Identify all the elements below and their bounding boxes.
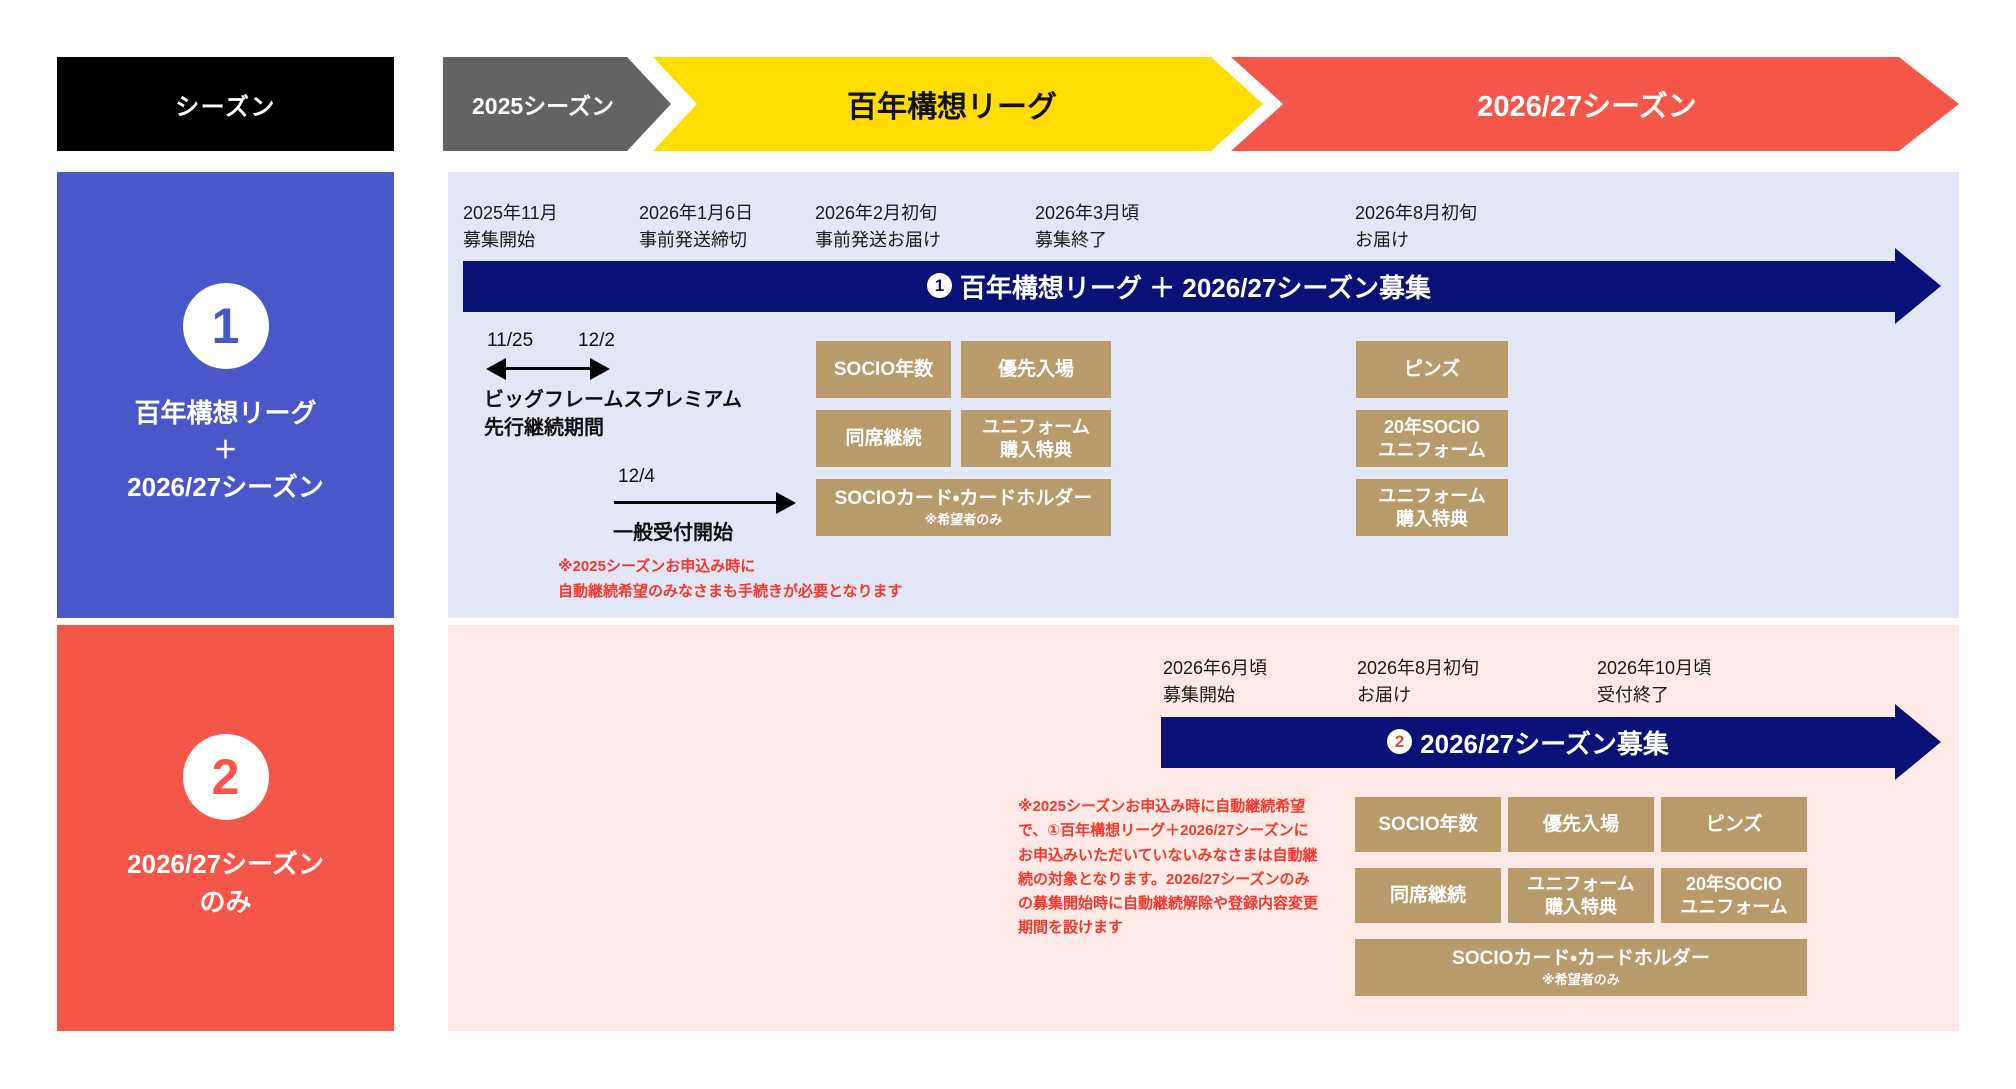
row-2-title: 2026/27シーズン のみ — [127, 846, 324, 921]
row-1-benefit-r0-label: ピンズ — [1404, 358, 1461, 382]
row-1-title-plus: ＋ — [127, 433, 324, 469]
row-2-progress-bar-label-wrap: 2 2026/27シーズン募集 — [1161, 717, 1895, 768]
row-2-milestone-2-date: 2026年10月頃 — [1597, 655, 1711, 682]
row-2-benefit-20y-uniform: 20年SOCIOユニフォーム — [1661, 868, 1807, 923]
row-1-milestone-0-date: 2025年11月 — [463, 200, 558, 227]
row-1-period-double-arrow-icon — [486, 358, 610, 380]
header-season-label: シーズン — [57, 57, 394, 151]
row-1-general-label: 一般受付開始 — [613, 519, 733, 547]
row-1-general-arrow-icon — [614, 492, 796, 514]
row-2-milestone-0: 2026年6月頃 募集開始 — [1163, 655, 1267, 709]
row-2-benefit-priority-entry: 優先入場 — [1508, 797, 1654, 852]
row-1-note-line2: 自動継続希望のみなさまも手続きが必要となります — [558, 580, 903, 605]
row-1-bar-label: 百年構想リーグ ＋ 2026/27シーズン募集 — [960, 268, 1431, 305]
row-2-title-line1: 2026/27シーズン — [127, 849, 324, 879]
row-1-benefit-uniform-purchase: ユニフォーム購入特典 — [961, 410, 1111, 467]
row-1-milestone-3-event: 募集終了 — [1035, 227, 1139, 254]
row-1-milestone-2-event: 事前発送お届け — [815, 227, 941, 254]
row-1-milestone-2-date: 2026年2月初旬 — [815, 200, 941, 227]
row-1-title-line1: 百年構想リーグ — [134, 398, 316, 428]
row-1-benefit-4-label: SOCIOカード・カードホルダー — [835, 487, 1093, 511]
row-1-milestone-3-date: 2026年3月頃 — [1035, 200, 1139, 227]
row-1-title-line2: 2026/27シーズン — [127, 472, 324, 502]
row-1-progress-bar-label-wrap: 1 百年構想リーグ ＋ 2026/27シーズン募集 — [463, 261, 1895, 312]
row-1-benefit-socio-years: SOCIO年数 — [816, 341, 951, 398]
row-1-benefit-r2-label: ユニフォーム購入特典 — [1378, 485, 1485, 530]
row-1-benefit-priority-entry: 優先入場 — [961, 341, 1111, 398]
row-1-period-start-date: 11/25 — [487, 330, 533, 352]
row-1-number-text: 1 — [212, 301, 240, 351]
row-1-milestone-4-date: 2026年8月初旬 — [1355, 200, 1477, 227]
row-1-milestone-4-event: お届け — [1355, 227, 1477, 254]
row-1-period-title-line2: 先行継続期間 — [484, 414, 742, 442]
row-1-milestone-1: 2026年1月6日 事前発送締切 — [639, 200, 753, 254]
row-2-number-badge: 2 — [183, 734, 269, 820]
row-2-milestone-1: 2026年8月初旬 お届け — [1357, 655, 1479, 709]
row-1-benefit-same-seat: 同席継続 — [816, 410, 951, 467]
row-2-title-line2: のみ — [199, 887, 251, 917]
row-1-period-end-date: 12/2 — [578, 330, 615, 352]
timeline-diagram: シーズン 2025シーズン 百年構想リーグ 2026/27シーズン 1 百年構想… — [0, 0, 2016, 1089]
row-2-milestone-2-event: 受付終了 — [1597, 682, 1711, 709]
row-1-bar-badge: 1 — [927, 273, 952, 298]
row-1-milestone-1-event: 事前発送締切 — [639, 227, 753, 254]
row-1-period-title: ビッグフレームスプレミアム 先行継続期間 — [484, 386, 742, 442]
row-2-milestone-2: 2026年10月頃 受付終了 — [1597, 655, 1711, 709]
header-phase-2025-text: 2025シーズン — [472, 87, 614, 121]
row-1-benefit-uniform-purchase-2: ユニフォーム購入特典 — [1356, 479, 1508, 536]
row-2-label: 2 2026/27シーズン のみ — [57, 625, 394, 1031]
row-2-benefit-socio-years: SOCIO年数 — [1355, 797, 1501, 852]
row-2-benefit-3-label: 同席継続 — [1390, 884, 1466, 908]
row-1-milestone-1-date: 2026年1月6日 — [639, 200, 753, 227]
row-1-period-title-line1: ビッグフレームスプレミアム — [484, 386, 742, 414]
row-1-milestone-2: 2026年2月初旬 事前発送お届け — [815, 200, 941, 254]
row-1-milestone-3: 2026年3月頃 募集終了 — [1035, 200, 1139, 254]
header-phase-2026-27-text: 2026/27シーズン — [1477, 83, 1696, 125]
row-1-note-line1: ※2025シーズンお申込み時に — [558, 555, 903, 580]
row-2-bar-label: 2026/27シーズン募集 — [1420, 724, 1669, 761]
row-1-note: ※2025シーズンお申込み時に 自動継続希望のみなさまも手続きが必要となります — [558, 555, 903, 605]
header-phase-100year-text: 百年構想リーグ — [847, 82, 1057, 126]
row-2-benefit-uniform-purchase: ユニフォーム購入特典 — [1508, 868, 1654, 923]
row-1-benefit-r1-label: 20年SOCIOユニフォーム — [1378, 416, 1485, 461]
row-1-benefit-socio-card: SOCIOカード・カードホルダー ※希望者のみ — [816, 479, 1111, 536]
row-2-benefit-same-seat: 同席継続 — [1355, 868, 1501, 923]
row-2-note: ※2025シーズンお申込み時に自動継続希望で、①百年構想リーグ＋2026/27シ… — [1018, 795, 1323, 941]
row-1-benefit-pins: ピンズ — [1356, 341, 1508, 398]
row-2-benefit-1-label: 優先入場 — [1543, 813, 1619, 837]
header-phase-100year: 百年構想リーグ — [653, 57, 1263, 151]
header-season-text: シーズン — [175, 87, 276, 122]
row-1-benefit-20y-uniform: 20年SOCIOユニフォーム — [1356, 410, 1508, 467]
row-1-progress-bar-arrowhead — [1895, 248, 1941, 324]
row-1-benefit-4-note: ※希望者のみ — [925, 512, 1003, 528]
row-2-milestone-0-event: 募集開始 — [1163, 682, 1267, 709]
row-2-number-text: 2 — [212, 752, 240, 802]
row-1-benefit-0-label: SOCIO年数 — [834, 358, 933, 382]
row-2-milestone-0-date: 2026年6月頃 — [1163, 655, 1267, 682]
row-2-milestone-1-event: お届け — [1357, 682, 1479, 709]
row-2-benefit-pins: ピンズ — [1661, 797, 1807, 852]
row-2-progress-bar-arrowhead — [1895, 704, 1941, 780]
row-2-benefit-4-label: ユニフォーム購入特典 — [1527, 873, 1634, 918]
row-2-benefit-2-label: ピンズ — [1706, 813, 1763, 837]
row-2-benefit-6-label: SOCIOカード・カードホルダー — [1452, 947, 1710, 971]
row-1-milestone-0-event: 募集開始 — [463, 227, 558, 254]
row-1-benefit-2-label: 同席継続 — [845, 427, 921, 451]
row-2-benefit-6-note: ※希望者のみ — [1542, 972, 1620, 988]
header-phase-2026-27: 2026/27シーズン — [1231, 57, 1959, 151]
header-phase-2025: 2025シーズン — [443, 57, 671, 151]
row-1-general-date: 12/4 — [618, 466, 655, 488]
row-1-benefit-3-label: ユニフォーム購入特典 — [982, 416, 1089, 461]
row-2-benefit-socio-card: SOCIOカード・カードホルダー ※希望者のみ — [1355, 939, 1807, 996]
row-2-milestone-1-date: 2026年8月初旬 — [1357, 655, 1479, 682]
row-2-bar-badge: 2 — [1387, 729, 1412, 754]
row-1-label: 1 百年構想リーグ ＋ 2026/27シーズン — [57, 172, 394, 618]
row-2-benefit-5-label: 20年SOCIOユニフォーム — [1680, 873, 1787, 918]
row-1-benefit-1-label: 優先入場 — [998, 358, 1074, 382]
row-1-milestone-0: 2025年11月 募集開始 — [463, 200, 558, 254]
row-1-number-badge: 1 — [183, 283, 269, 369]
row-1-title: 百年構想リーグ ＋ 2026/27シーズン — [127, 395, 324, 506]
row-2-benefit-0-label: SOCIO年数 — [1378, 813, 1477, 837]
row-1-milestone-4: 2026年8月初旬 お届け — [1355, 200, 1477, 254]
